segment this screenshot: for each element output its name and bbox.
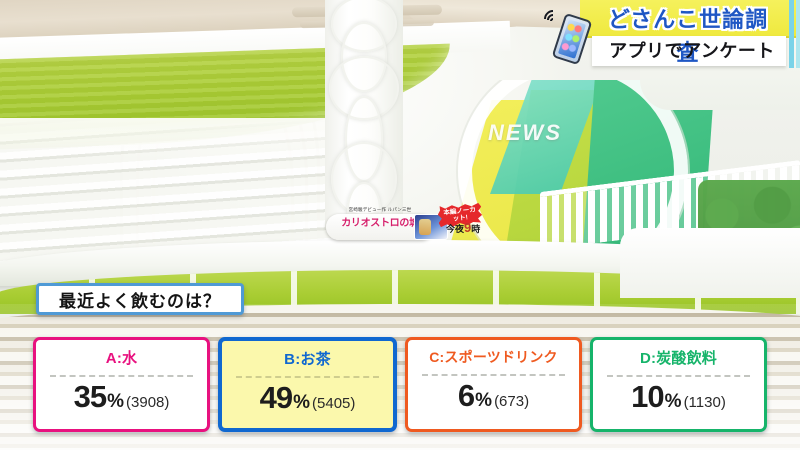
poll-card-b[interactable]: B:お茶 49 % (5405) xyxy=(218,337,397,432)
card-divider xyxy=(236,376,380,378)
card-divider xyxy=(50,375,194,377)
movie-promo-banner: 宮崎駿デビュー作 ルパン三世 カリオストロの城 本編ノーカット! 今夜9時 xyxy=(326,206,486,246)
poll-option-label-b: B:お茶 xyxy=(284,348,331,369)
phone-screen xyxy=(558,19,586,59)
promo-kicker: 宮崎駿デビュー作 ルパン三世 xyxy=(326,207,434,213)
poll-results-row: A:水 35 % (3908) B:お茶 49 % (5405) C:スポーツド… xyxy=(33,337,767,432)
program-subtitle: アプリでアンケート xyxy=(600,37,784,65)
poll-value-row-c: 6 % (673) xyxy=(408,378,579,414)
promo-airtime-suffix: 時 xyxy=(471,224,480,234)
poll-value-row-a: 35 % (3908) xyxy=(36,379,207,415)
poll-percent-b: 49 xyxy=(260,380,292,416)
poll-card-c[interactable]: C:スポーツドリンク 6 % (673) xyxy=(405,337,582,432)
smartphone-icon xyxy=(542,4,604,66)
card-divider xyxy=(422,374,566,376)
poll-value-row-b: 49 % (5405) xyxy=(222,380,393,416)
program-title-badge: どさんこ世論調査 アプリでアンケート xyxy=(540,0,800,70)
percent-symbol: % xyxy=(665,391,682,413)
poll-count-d: (1130) xyxy=(684,394,726,411)
poll-question-text: 最近よく飲むのは？ xyxy=(59,287,221,312)
poll-option-label-d: D:炭酸飲料 xyxy=(640,347,717,368)
program-title: どさんこ世論調査 xyxy=(602,3,774,36)
badge-edge-cyan xyxy=(789,0,794,68)
poll-percent-c: 6 xyxy=(458,378,474,414)
poll-percent-a: 35 xyxy=(74,379,106,415)
poll-count-b: (5405) xyxy=(312,395,355,412)
poll-value-row-d: 10 % (1130) xyxy=(593,379,764,415)
promo-airtime: 今夜9時 xyxy=(446,220,480,235)
poll-count-a: (3908) xyxy=(126,394,169,411)
poll-card-a[interactable]: A:水 35 % (3908) xyxy=(33,337,210,432)
poll-option-label-c: C:スポーツドリンク xyxy=(429,347,558,367)
poll-question-box: 最近よく飲むのは？ xyxy=(36,283,244,315)
poll-count-c: (673) xyxy=(494,393,529,410)
poll-percent-d: 10 xyxy=(631,379,663,415)
card-divider xyxy=(607,375,751,377)
badge-edge-light xyxy=(796,0,800,68)
desk-right-extension xyxy=(620,228,800,298)
station-logo: NEWS xyxy=(488,120,562,146)
broadcast-screenshot: NEWS xyxy=(0,0,800,450)
percent-symbol: % xyxy=(107,391,124,413)
percent-symbol: % xyxy=(293,392,310,414)
decorative-lattice-column xyxy=(325,0,403,232)
poll-card-d[interactable]: D:炭酸飲料 10 % (1130) xyxy=(590,337,767,432)
percent-symbol: % xyxy=(475,390,492,412)
poll-option-label-a: A:水 xyxy=(106,347,137,368)
promo-airtime-prefix: 今夜 xyxy=(446,224,464,234)
